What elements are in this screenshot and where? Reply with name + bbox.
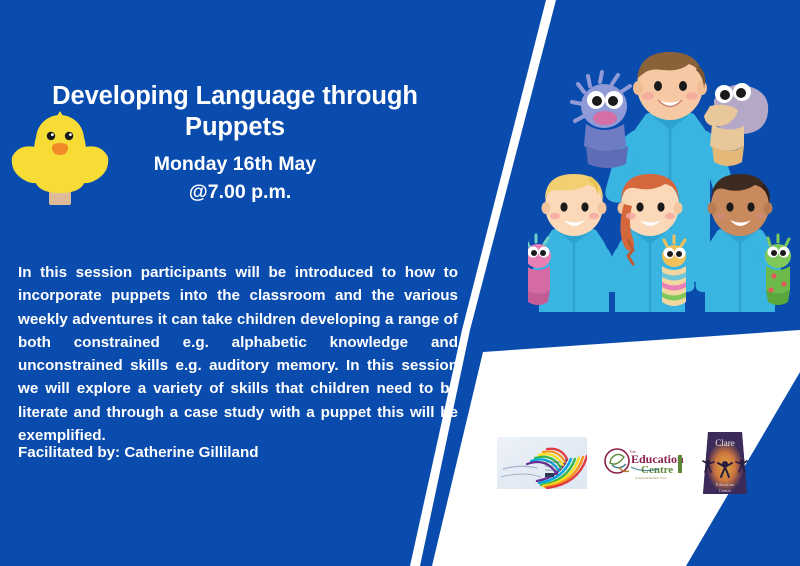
teacher-left-puppet: [572, 72, 630, 168]
clare-education-text: Education: [716, 482, 735, 487]
svg-text:OLLSCOIL NA: OLLSCOIL NA: [545, 464, 562, 468]
text-column: Developing Language through Puppets Mond…: [0, 0, 470, 566]
child-redhead-puppet: [662, 236, 686, 306]
ec-centre-text: Centre: [641, 464, 673, 476]
poster-canvas: Developing Language through Puppets Mond…: [0, 0, 800, 566]
date-line: Monday 16th May: [18, 151, 452, 179]
svg-text:GAILLIMHE: GAILLIMHE: [545, 468, 559, 472]
the-education-centre-logo: The Education Centre An Ionad Oideachais…: [601, 441, 685, 485]
logo-strip: NUI GALWAY OLLSCOIL NA GAILLIMHE The Edu…: [497, 425, 772, 501]
clare-centre-text: Centre: [719, 488, 731, 493]
facilitator-line: Facilitated by: Catherine Gilliland: [18, 444, 458, 461]
svg-text:NUI GALWAY: NUI GALWAY: [545, 460, 561, 464]
ec-tagline: An Ionad Oideachais, Trá Lí: [635, 477, 667, 480]
nui-galway-rainbow-logo: NUI GALWAY OLLSCOIL NA GAILLIMHE: [497, 437, 587, 489]
poster-title: Developing Language through Puppets: [18, 81, 452, 143]
time-line: @7.00 p.m.: [18, 179, 452, 207]
teacher-right-puppet: [704, 83, 768, 166]
child-blonde: [528, 174, 618, 312]
child-dark-hair-puppet: [765, 235, 791, 305]
clare-education-centre-logo: Clare Education Centre: [699, 428, 751, 498]
poster-datetime: Monday 16th May @7.00 p.m.: [18, 151, 452, 206]
clare-title-text: Clare: [715, 438, 735, 448]
teacher-and-children-with-puppets-illustration: [528, 44, 800, 312]
poster-description: In this session participants will be int…: [18, 261, 458, 447]
